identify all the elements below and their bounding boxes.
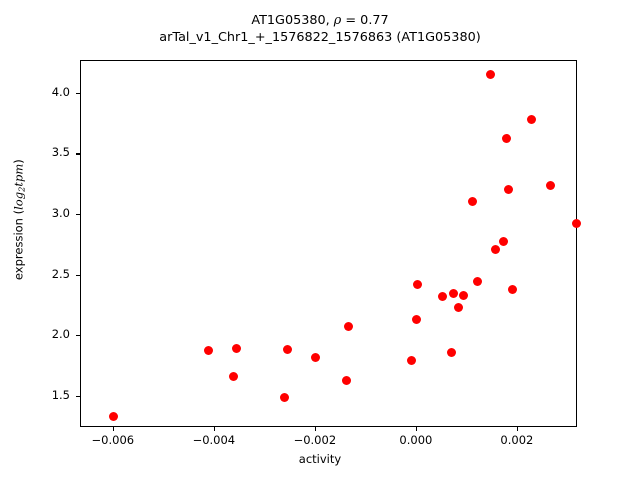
data-point xyxy=(407,356,416,365)
y-tick-mark xyxy=(76,153,80,154)
data-point xyxy=(491,245,500,254)
data-point xyxy=(473,277,482,286)
data-point xyxy=(449,289,458,298)
data-point xyxy=(283,345,292,354)
x-tick-label: −0.002 xyxy=(270,433,360,447)
data-point xyxy=(232,344,241,353)
chart-title-line-1: AT1G05380, ρ = 0.77 xyxy=(0,12,640,29)
data-point xyxy=(342,376,351,385)
y-label-subscript: 2 xyxy=(17,187,27,192)
y-tick-mark xyxy=(76,275,80,276)
data-point xyxy=(412,315,421,324)
data-point xyxy=(204,346,213,355)
chart-title: AT1G05380, ρ = 0.77 arTal_v1_Chr1_+_1576… xyxy=(0,12,640,46)
x-tick-mark xyxy=(214,427,215,431)
title-rho-value: = 0.77 xyxy=(341,13,388,28)
x-tick-label: −0.004 xyxy=(169,433,259,447)
y-tick-label: 1.5 xyxy=(0,388,70,402)
data-point xyxy=(499,237,508,246)
data-point xyxy=(459,291,468,300)
x-tick-mark xyxy=(416,427,417,431)
data-point xyxy=(502,134,511,143)
scatter-plot-figure: AT1G05380, ρ = 0.77 arTal_v1_Chr1_+_1576… xyxy=(0,0,640,480)
chart-title-line-2: arTal_v1_Chr1_+_1576822_1576863 (AT1G053… xyxy=(0,29,640,46)
y-label-tpm: tpm xyxy=(11,164,25,187)
data-point xyxy=(344,322,353,331)
x-tick-label: 0.000 xyxy=(371,433,461,447)
plot-axes-frame xyxy=(80,60,577,427)
x-tick-mark xyxy=(315,427,316,431)
y-tick-mark xyxy=(76,396,80,397)
data-point xyxy=(527,115,536,124)
data-point xyxy=(454,303,463,312)
plot-data-area xyxy=(81,61,576,426)
data-point xyxy=(311,353,320,362)
data-point xyxy=(280,393,289,402)
y-label-prefix: expression ( xyxy=(11,210,25,280)
data-point xyxy=(229,372,238,381)
y-label-suffix: ) xyxy=(11,159,25,164)
x-tick-label: −0.006 xyxy=(68,433,158,447)
y-tick-mark xyxy=(76,214,80,215)
y-axis-label: expression (log2tpm) xyxy=(11,70,26,370)
title-gene-prefix: AT1G05380, xyxy=(251,13,333,28)
y-tick-mark xyxy=(76,335,80,336)
data-point xyxy=(438,292,447,301)
data-point xyxy=(508,285,517,294)
y-tick-mark xyxy=(76,93,80,94)
data-point xyxy=(572,219,581,228)
data-point xyxy=(504,185,513,194)
y-label-log: log xyxy=(11,192,25,210)
data-point xyxy=(546,181,555,190)
data-point xyxy=(109,412,118,421)
data-point xyxy=(468,197,477,206)
x-tick-mark xyxy=(517,427,518,431)
x-tick-mark xyxy=(113,427,114,431)
data-point xyxy=(486,70,495,79)
data-point xyxy=(447,348,456,357)
data-point xyxy=(413,280,422,289)
x-axis-label: activity xyxy=(0,452,640,466)
x-tick-label: 0.002 xyxy=(472,433,562,447)
